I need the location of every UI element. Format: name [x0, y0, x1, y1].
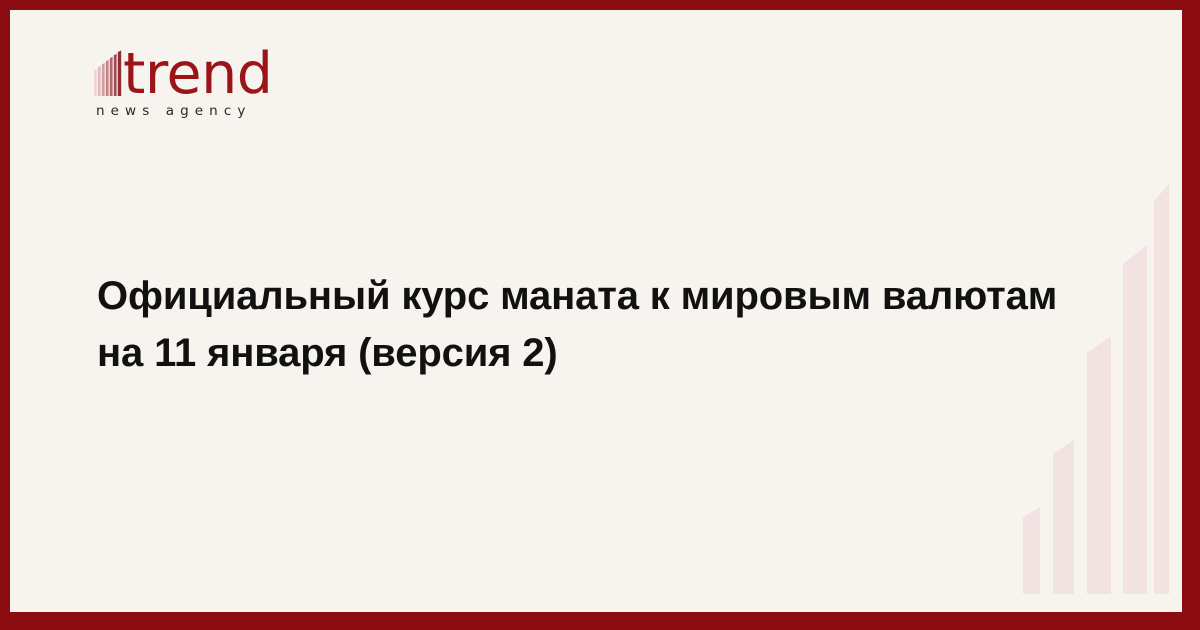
- site-logo[interactable]: trend news agency: [94, 42, 272, 119]
- logo-row: trend: [94, 42, 272, 96]
- logo-wordmark: trend: [123, 50, 272, 99]
- frame-border-bottom: [0, 612, 1200, 630]
- trend-ascending-bars-logo-mark-icon: [94, 50, 122, 96]
- frame-border-top: [0, 0, 1200, 10]
- page-title: Официальный курс маната к мировым валюта…: [97, 268, 1097, 382]
- frame-border-right: [1182, 0, 1200, 630]
- social-share-card: trend news agency Официальный курс манат…: [0, 0, 1200, 630]
- frame-border-left: [0, 0, 10, 630]
